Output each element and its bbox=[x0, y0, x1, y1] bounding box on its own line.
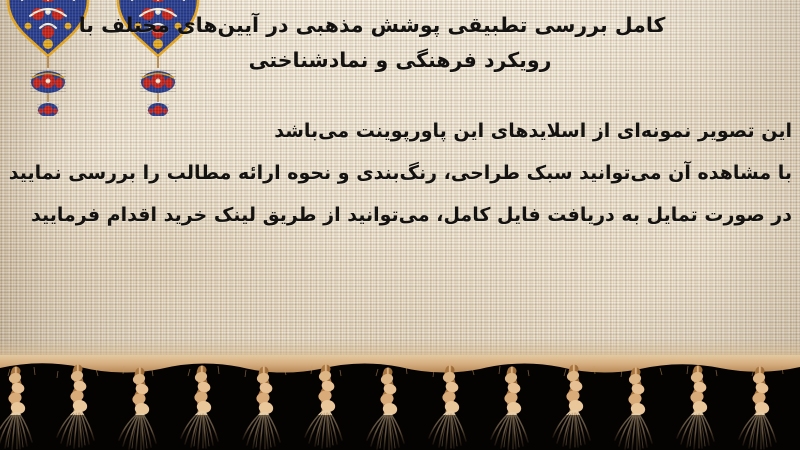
body-line-3: در صورت تمایل به دریافت فایل کامل، می‌تو… bbox=[8, 194, 792, 236]
body-line-1: این تصویر نمونه‌ای از اسلایدهای این پاور… bbox=[8, 110, 792, 152]
page-title: کامل بررسی تطبیقی پوشش مذهبی در آیین‌های… bbox=[10, 8, 790, 78]
slide-canvas: کامل بررسی تطبیقی پوشش مذهبی در آیین‌های… bbox=[0, 0, 800, 450]
carpet-fringe bbox=[0, 355, 800, 450]
body-line-2: با مشاهده آن می‌توانید سبک طراحی، رنگ‌بن… bbox=[8, 152, 792, 194]
title-line-1: کامل بررسی تطبیقی پوشش مذهبی در آیین‌های… bbox=[10, 8, 790, 43]
body-text: این تصویر نمونه‌ای از اسلایدهای این پاور… bbox=[8, 110, 792, 236]
text-layer: کامل بررسی تطبیقی پوشش مذهبی در آیین‌های… bbox=[0, 0, 800, 372]
title-line-2: رویکرد فرهنگی و نمادشناختی bbox=[10, 43, 790, 78]
tassel-fringe-icon bbox=[0, 355, 800, 450]
